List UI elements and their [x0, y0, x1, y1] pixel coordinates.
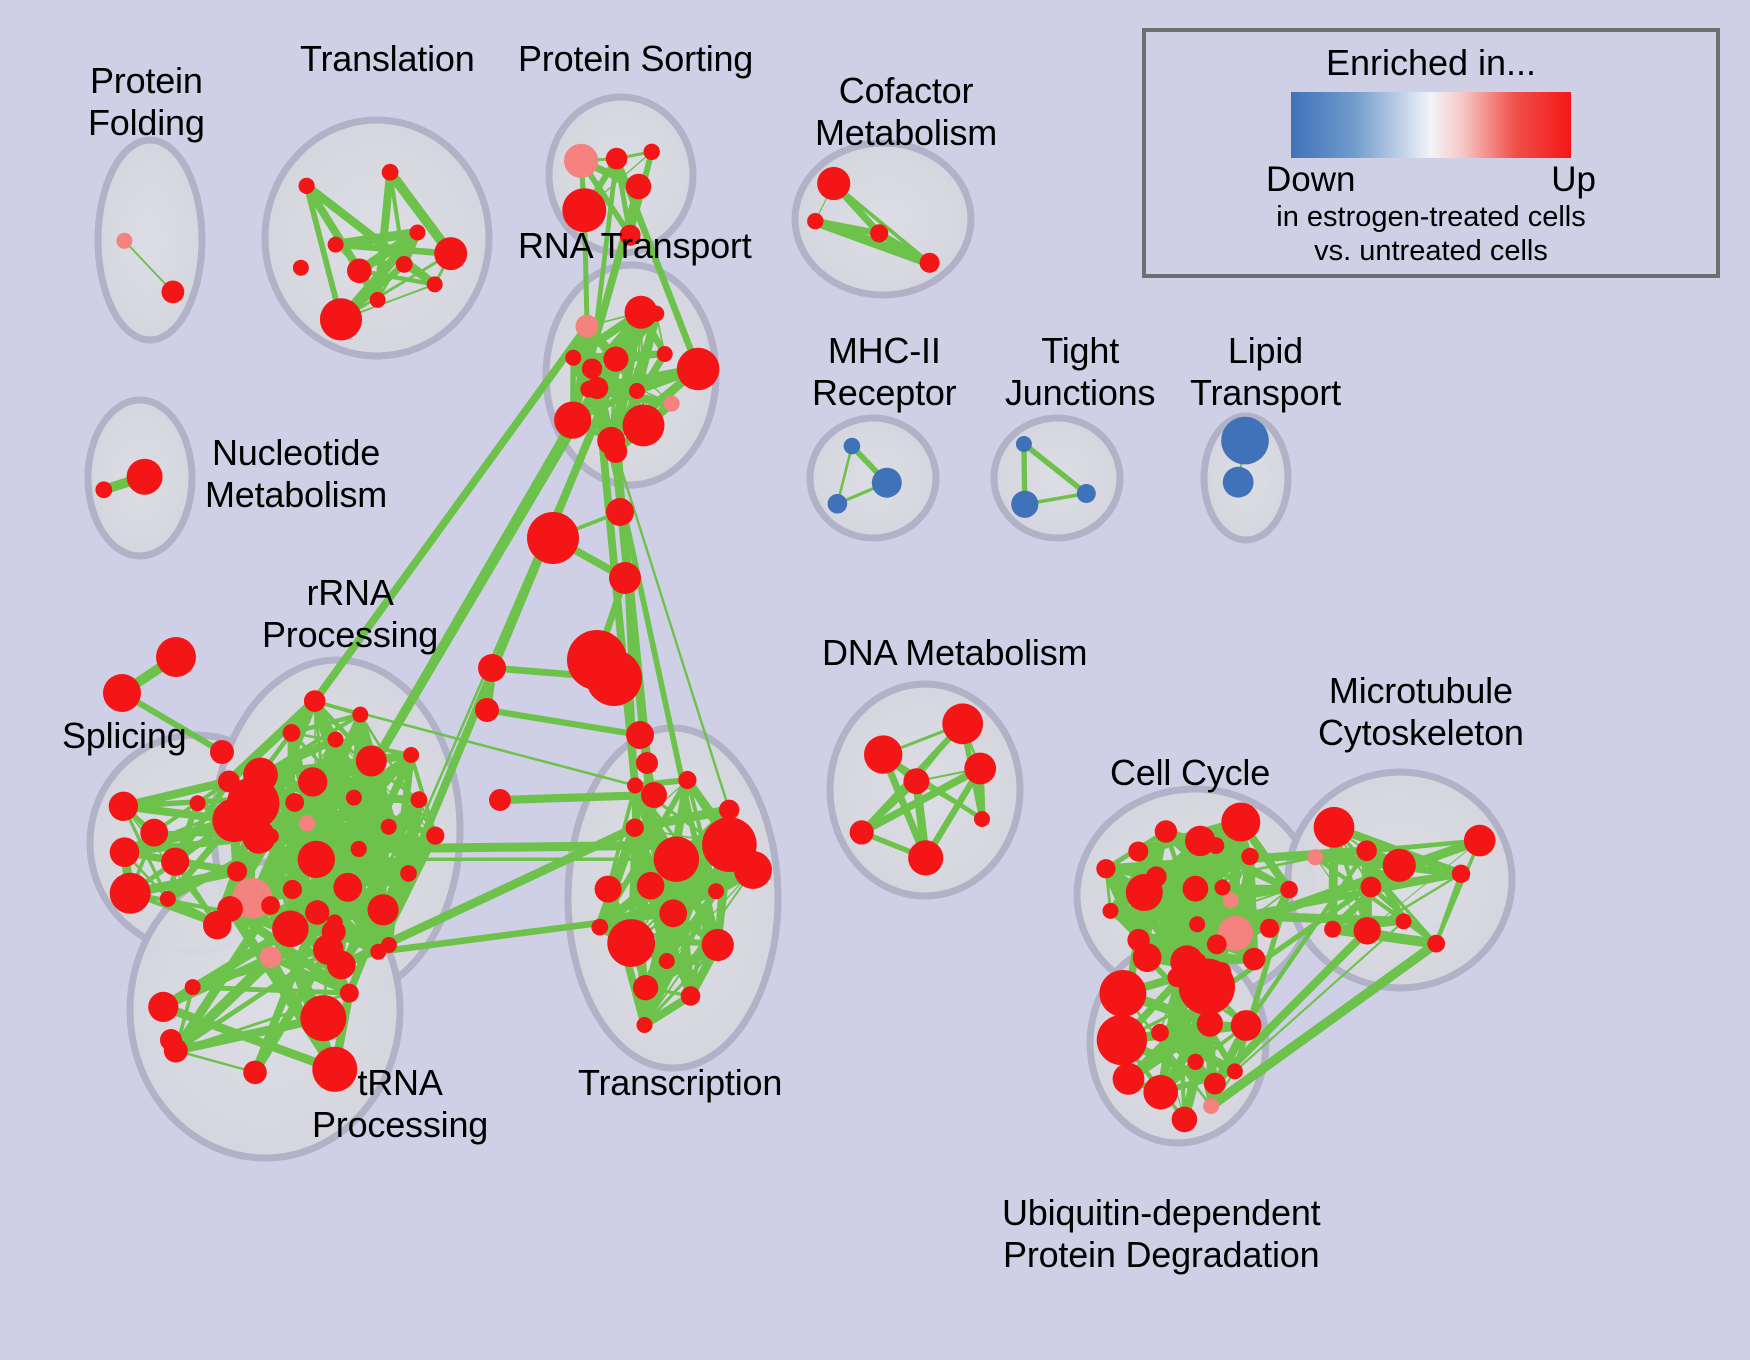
- network-node: [381, 819, 397, 835]
- network-node: [1314, 807, 1355, 848]
- network-node: [346, 790, 362, 806]
- network-node: [657, 346, 673, 362]
- network-node: [299, 178, 315, 194]
- network-node: [1143, 1075, 1178, 1110]
- network-node: [702, 817, 757, 872]
- network-node: [903, 768, 929, 794]
- cluster-label-translation: Translation: [300, 38, 475, 80]
- network-node: [1207, 934, 1227, 954]
- network-node: [828, 494, 848, 514]
- network-node: [285, 793, 304, 812]
- network-node: [1151, 1024, 1169, 1042]
- network-node: [1189, 916, 1205, 932]
- network-node: [320, 298, 362, 340]
- cluster-label-dna-metabolism: DNA Metabolism: [822, 632, 1087, 674]
- network-node: [261, 896, 280, 915]
- network-node: [368, 894, 399, 925]
- cluster-label-lipid-transport: Lipid Transport: [1190, 330, 1341, 414]
- network-node: [870, 224, 888, 242]
- network-node: [582, 359, 602, 379]
- legend-endpoints: Down Up: [1266, 160, 1596, 200]
- cluster-label-ubiquitin-dependent-protein-degradation: Ubiquitin-dependent Protein Degradation: [1002, 1192, 1320, 1276]
- network-node: [400, 865, 417, 882]
- network-node: [410, 225, 426, 241]
- network-node: [243, 1061, 267, 1085]
- network-node: [148, 992, 178, 1022]
- network-node: [1396, 913, 1412, 929]
- network-node: [1077, 484, 1096, 503]
- network-node: [633, 975, 658, 1000]
- network-node: [609, 562, 641, 594]
- network-node: [626, 721, 654, 749]
- network-node: [328, 732, 344, 748]
- network-node: [637, 872, 665, 900]
- network-node: [872, 468, 902, 498]
- legend-up-label: Up: [1551, 160, 1596, 200]
- network-node: [1307, 849, 1323, 865]
- network-node: [1103, 903, 1119, 919]
- network-node: [1464, 825, 1496, 857]
- network-node: [1221, 417, 1269, 465]
- network-node: [1146, 866, 1167, 887]
- network-node: [659, 899, 687, 927]
- network-node: [381, 937, 397, 953]
- network-node: [328, 237, 344, 253]
- network-node: [664, 396, 680, 412]
- network-node: [1128, 842, 1148, 862]
- network-node: [489, 789, 511, 811]
- network-node: [1280, 881, 1298, 899]
- network-node: [95, 481, 112, 498]
- network-node: [702, 929, 734, 961]
- network-node: [475, 698, 499, 722]
- network-node: [1011, 491, 1038, 518]
- network-node: [411, 791, 428, 808]
- cluster-label-cell-cycle: Cell Cycle: [1110, 752, 1270, 794]
- network-node: [677, 348, 720, 391]
- network-node: [1016, 436, 1032, 452]
- cluster-ellipse: [994, 418, 1120, 538]
- network-node: [434, 237, 467, 270]
- network-node: [636, 752, 658, 774]
- network-node: [1243, 948, 1266, 971]
- network-node: [283, 724, 301, 742]
- cluster-label-splicing: Splicing: [62, 715, 186, 757]
- network-node: [1096, 859, 1115, 878]
- network-node: [637, 1017, 653, 1033]
- network-node: [908, 840, 943, 875]
- network-node: [304, 690, 326, 712]
- network-node: [586, 650, 642, 706]
- network-node: [565, 350, 581, 366]
- network-node: [864, 735, 902, 773]
- network-node: [1354, 917, 1381, 944]
- network-node: [606, 498, 634, 526]
- network-node: [807, 213, 823, 229]
- network-node: [156, 637, 196, 677]
- network-node: [850, 820, 874, 844]
- cluster-label-cofactor-metabolism: Cofactor Metabolism: [815, 70, 997, 154]
- cluster-label-tight-junctions: Tight Junctions: [1005, 330, 1155, 414]
- network-node: [109, 792, 138, 821]
- network-node: [942, 703, 983, 744]
- network-node: [185, 979, 201, 995]
- network-edge: [500, 795, 654, 800]
- network-node: [659, 953, 675, 969]
- cluster-label-trna-processing: tRNA Processing: [312, 1062, 488, 1146]
- network-node: [629, 383, 645, 399]
- network-node: [648, 306, 664, 322]
- cluster-label-protein-sorting: Protein Sorting: [518, 38, 753, 80]
- network-node: [564, 144, 598, 178]
- legend-title: Enriched in...: [1326, 42, 1536, 84]
- cluster-label-rna-transport: RNA Transport: [518, 225, 752, 267]
- network-node: [606, 148, 628, 170]
- enrichment-map-figure: Protein FoldingTranslationProtein Sortin…: [0, 0, 1750, 1360]
- network-node: [1215, 880, 1231, 896]
- network-node: [1231, 1010, 1262, 1041]
- network-node: [627, 778, 643, 794]
- network-node: [817, 167, 850, 200]
- network-node: [1361, 877, 1382, 898]
- network-node: [607, 919, 655, 967]
- network-node: [1203, 1098, 1219, 1114]
- network-node: [110, 873, 151, 914]
- network-node: [920, 253, 940, 273]
- network-node: [604, 440, 627, 463]
- network-node: [127, 459, 163, 495]
- network-node: [305, 900, 329, 924]
- legend-subtitle-1: in estrogen-treated cells: [1276, 200, 1586, 234]
- network-node: [681, 986, 701, 1006]
- network-node: [1241, 848, 1258, 865]
- network-node: [298, 841, 335, 878]
- cluster-label-microtubule-cytoskeleton: Microtubule Cytoskeleton: [1318, 670, 1524, 754]
- network-node: [641, 782, 667, 808]
- network-node: [396, 256, 413, 273]
- network-node: [160, 1029, 182, 1051]
- cluster-label-mhc-ii-receptor: MHC-II Receptor: [812, 330, 956, 414]
- network-node: [351, 841, 367, 857]
- network-node: [644, 144, 660, 160]
- network-node: [719, 800, 739, 820]
- network-node: [352, 707, 368, 723]
- network-node: [623, 404, 665, 446]
- network-node: [580, 381, 597, 398]
- cluster-label-protein-folding: Protein Folding: [88, 60, 205, 144]
- network-node: [217, 896, 243, 922]
- network-node: [1187, 1054, 1203, 1070]
- network-node: [427, 276, 443, 292]
- network-node: [382, 164, 399, 181]
- network-node: [1452, 865, 1470, 883]
- network-node: [603, 347, 628, 372]
- network-node: [327, 914, 343, 930]
- network-node: [1427, 935, 1445, 953]
- network-node: [190, 795, 206, 811]
- network-node: [160, 891, 176, 907]
- legend-color-bar: [1291, 92, 1571, 158]
- network-node: [293, 260, 309, 276]
- network-node: [333, 873, 362, 902]
- network-node: [1100, 970, 1147, 1017]
- network-node: [162, 281, 185, 304]
- cluster-label-nucleotide-metabolism: Nucleotide Metabolism: [205, 432, 387, 516]
- network-node: [708, 883, 724, 899]
- network-node: [300, 995, 346, 1041]
- network-node: [298, 767, 327, 796]
- network-node: [227, 861, 247, 881]
- network-node: [283, 880, 302, 899]
- network-node: [1204, 1073, 1226, 1095]
- network-node: [1155, 820, 1177, 842]
- network-node: [527, 512, 579, 564]
- cluster-ellipse: [98, 140, 202, 340]
- network-node: [591, 919, 608, 936]
- legend-down-label: Down: [1266, 160, 1355, 200]
- network-node: [626, 819, 644, 837]
- network-node: [678, 771, 696, 789]
- network-node: [626, 174, 652, 200]
- network-node: [478, 654, 506, 682]
- network-node: [210, 740, 234, 764]
- network-edge: [487, 710, 640, 735]
- network-node: [1223, 467, 1254, 498]
- network-node: [1172, 1107, 1198, 1133]
- cluster-label-transcription: Transcription: [578, 1062, 782, 1104]
- network-node: [595, 876, 622, 903]
- network-node: [227, 777, 280, 830]
- network-node: [103, 674, 141, 712]
- network-node: [370, 292, 386, 308]
- network-node: [110, 837, 140, 867]
- network-node: [1260, 919, 1279, 938]
- network-node: [1324, 921, 1341, 938]
- network-node: [403, 747, 419, 763]
- network-node: [1185, 826, 1215, 856]
- network-node: [844, 438, 861, 455]
- network-node: [1113, 1063, 1145, 1095]
- network-node: [356, 746, 387, 777]
- network-node: [260, 946, 282, 968]
- network-node: [1227, 1063, 1243, 1079]
- network-node: [426, 827, 444, 845]
- network-node: [1221, 803, 1260, 842]
- cluster-label-rrna-processing: rRNA Processing: [262, 572, 438, 656]
- legend-subtitle-2: vs. untreated cells: [1314, 234, 1548, 268]
- network-node: [1356, 840, 1377, 861]
- network-node: [1176, 966, 1192, 982]
- network-node: [140, 819, 168, 847]
- network-node: [654, 837, 699, 882]
- network-node: [1097, 1015, 1147, 1065]
- network-node: [161, 848, 189, 876]
- network-node: [1183, 876, 1209, 902]
- network-node: [1383, 849, 1416, 882]
- network-node: [964, 753, 996, 785]
- network-node: [340, 984, 359, 1003]
- network-node: [974, 811, 990, 827]
- network-node: [313, 934, 344, 965]
- network-node: [576, 315, 599, 338]
- network-node: [116, 233, 132, 249]
- network-node: [272, 911, 309, 948]
- network-node: [299, 815, 315, 831]
- network-node: [554, 402, 591, 439]
- network-node: [1133, 943, 1162, 972]
- legend-box: Enriched in... Down Up in estrogen-treat…: [1142, 28, 1720, 278]
- network-node: [347, 259, 372, 284]
